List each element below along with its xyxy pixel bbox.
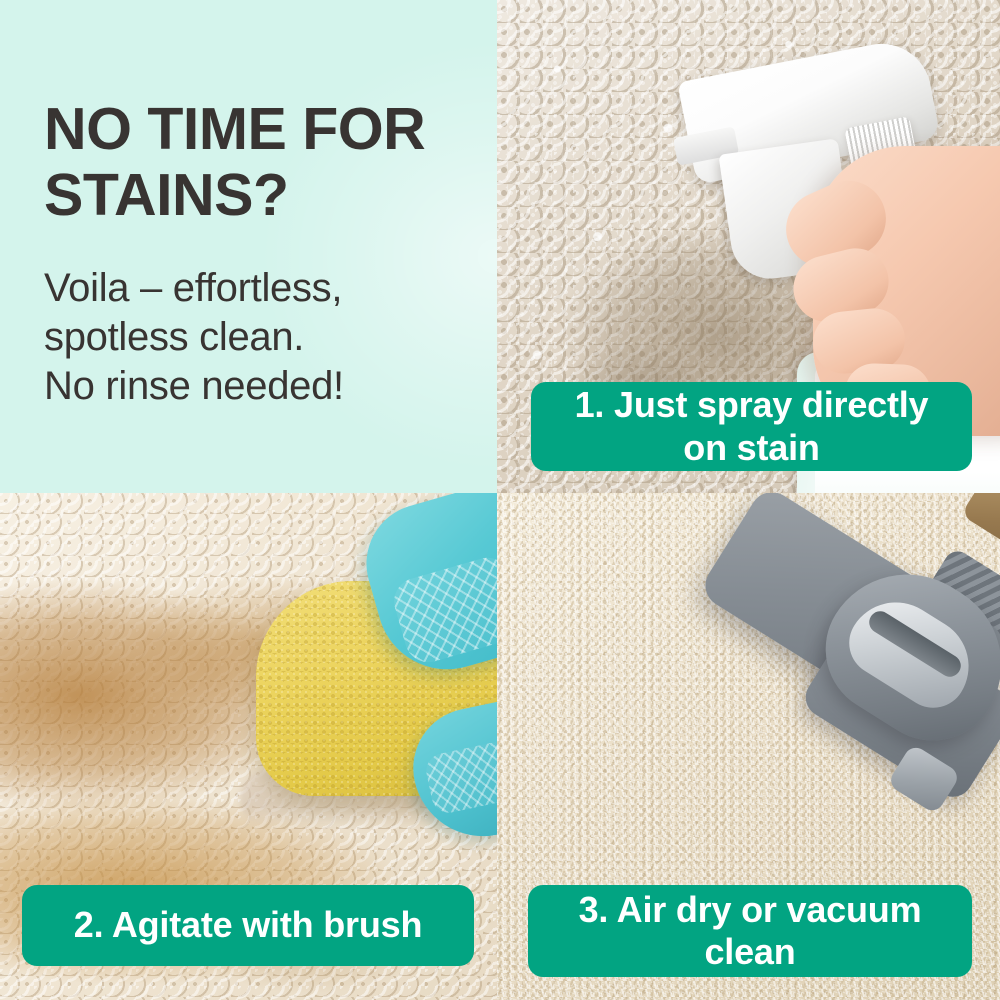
step-3-label: 3. Air dry or vacuum clean bbox=[528, 885, 972, 977]
step-2-label: 2. Agitate with brush bbox=[22, 885, 474, 966]
step-1-label: 1. Just spray directly on stain bbox=[531, 382, 972, 471]
page-subtitle: Voila – effortless, spotless clean. No r… bbox=[44, 264, 464, 410]
page-title: No time for stains? bbox=[44, 96, 464, 228]
infographic-canvas: No time for stains? Voila – effortless, … bbox=[0, 0, 1000, 1000]
text-panel-quadrant: No time for stains? Voila – effortless, … bbox=[0, 0, 497, 493]
